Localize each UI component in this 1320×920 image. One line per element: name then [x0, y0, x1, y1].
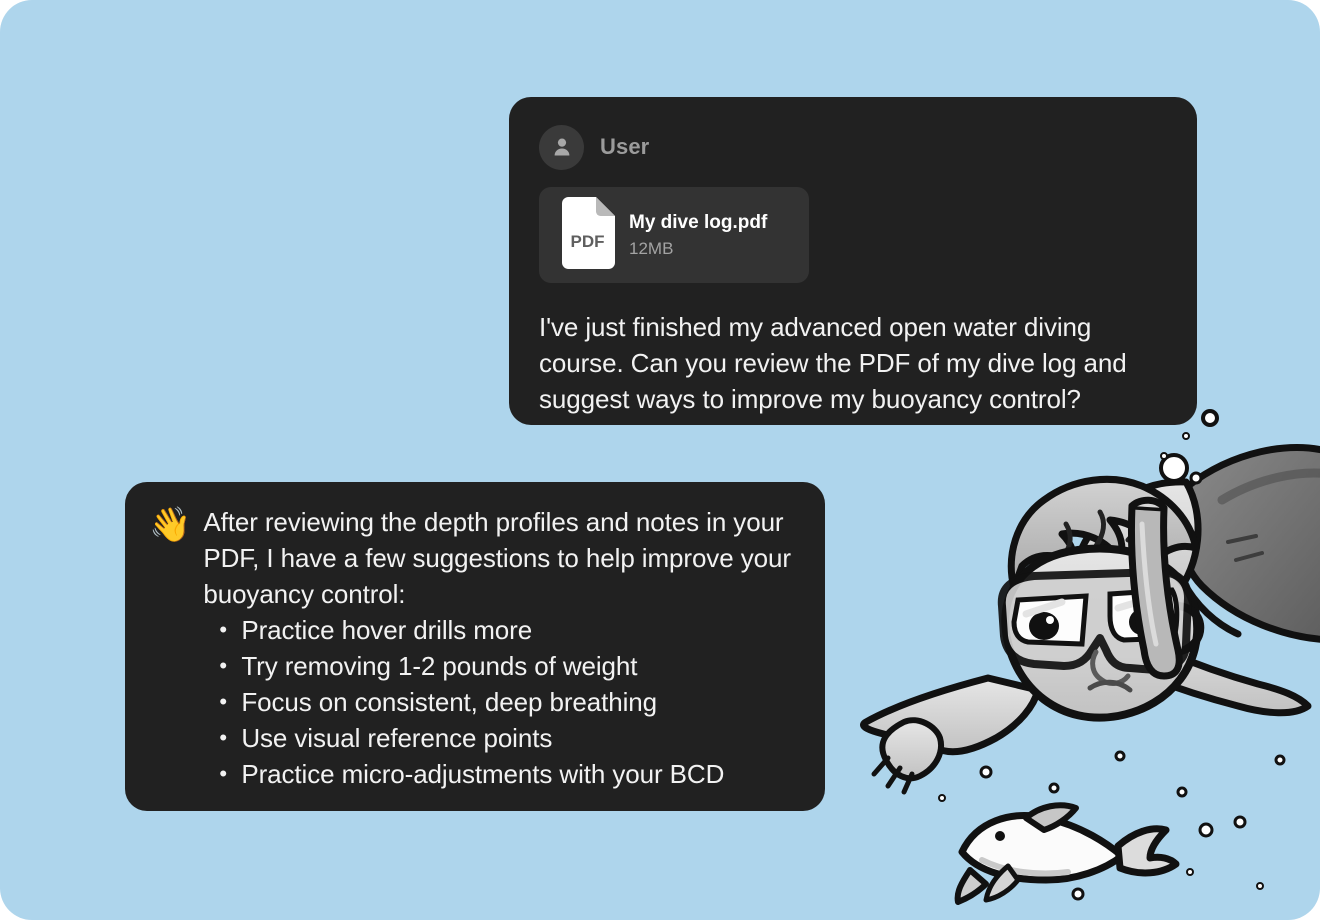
bubble — [939, 795, 945, 801]
finger-3 — [904, 774, 912, 792]
diver-left-hand — [882, 720, 941, 778]
bubble — [1257, 883, 1263, 889]
dive-mask — [1002, 572, 1188, 670]
attachment-meta: My dive log.pdf 12MB — [629, 212, 767, 259]
assistant-message-text: After reviewing the depth profiles and n… — [203, 504, 795, 792]
list-item: Practice micro-adjustments with your BCD — [241, 756, 795, 792]
diver-wetsuit — [1179, 447, 1320, 640]
suggestion-list: Practice hover drills more Try removing … — [203, 612, 795, 792]
bubble — [1276, 756, 1284, 764]
eye-left — [1029, 612, 1059, 640]
chat-scene-canvas: User PDF My dive log.pdf 12MB I've just … — [0, 0, 1320, 920]
diver-figure — [864, 447, 1320, 792]
bubble — [1161, 455, 1187, 481]
fish-lower-fin — [958, 870, 986, 902]
bubble — [1200, 824, 1212, 836]
fish-eye — [995, 831, 1005, 841]
finger-1 — [874, 758, 888, 774]
attachment-size: 12MB — [629, 239, 767, 259]
pdf-file-icon: PDF — [557, 197, 615, 274]
hair-strand-2 — [1096, 512, 1103, 546]
wetsuit-shading — [1222, 473, 1320, 500]
user-name-label: User — [600, 134, 649, 160]
wetsuit-crease-1 — [1228, 536, 1256, 542]
snorkel-top-rim — [1132, 500, 1164, 508]
diver-mouth — [1090, 682, 1130, 690]
bubble — [981, 767, 991, 777]
diver-head — [1005, 548, 1197, 717]
bubble — [1187, 869, 1193, 875]
hair-strand-3 — [1128, 508, 1138, 540]
assistant-message-bubble: 👋 After reviewing the depth profiles and… — [125, 482, 825, 811]
assistant-content-row: 👋 After reviewing the depth profiles and… — [149, 504, 795, 792]
list-item: Practice hover drills more — [241, 612, 795, 648]
fish-pectoral-fin — [986, 866, 1018, 900]
list-item: Focus on consistent, deep breathing — [241, 684, 795, 720]
waving-hand-emoji: 👋 — [149, 506, 191, 544]
user-header: User — [539, 123, 1163, 171]
snorkel-highlight — [1142, 524, 1156, 644]
diver-hair — [1011, 479, 1196, 588]
mask-glare-left — [1026, 602, 1062, 614]
hair-strand-1 — [1064, 524, 1070, 556]
chest-shading — [1100, 556, 1158, 570]
mask-strap — [1168, 606, 1200, 652]
svg-text:PDF: PDF — [571, 232, 605, 251]
fish-belly-shade — [982, 860, 1068, 874]
fish-body — [962, 816, 1122, 880]
mask-glare-right — [1118, 596, 1158, 608]
eye-right-highlight — [1145, 613, 1152, 620]
bubble — [1161, 453, 1167, 459]
diver-left-arm — [864, 678, 1038, 752]
mask-lens-left — [1014, 596, 1086, 644]
bubble — [1073, 889, 1083, 899]
finger-2 — [888, 768, 900, 786]
bubble — [1050, 784, 1058, 792]
fish-tail — [1118, 829, 1176, 873]
list-item: Try removing 1-2 pounds of weight — [241, 648, 795, 684]
bubble — [1203, 411, 1217, 425]
user-message-text: I've just finished my advanced open wate… — [539, 309, 1163, 417]
fish-figure — [958, 805, 1176, 902]
diver-right-arm — [1080, 612, 1308, 713]
attachment-card[interactable]: PDF My dive log.pdf 12MB — [539, 187, 809, 283]
wetsuit-crease-2 — [1236, 553, 1262, 560]
eye-left-highlight — [1046, 616, 1054, 624]
attachment-name: My dive log.pdf — [629, 212, 767, 234]
list-item: Use visual reference points — [241, 720, 795, 756]
diver-nose — [1093, 652, 1128, 683]
user-avatar-icon — [539, 125, 584, 170]
diver-shoulder — [1068, 482, 1198, 619]
armpit-mark — [1122, 589, 1158, 596]
mask-lens-right — [1110, 590, 1177, 640]
bubble — [1178, 788, 1186, 796]
bubble — [1191, 473, 1201, 483]
user-message-bubble: User PDF My dive log.pdf 12MB I've just … — [509, 97, 1197, 425]
assistant-intro-paragraph: After reviewing the depth profiles and n… — [203, 504, 795, 612]
fish-dorsal-fin — [1026, 805, 1076, 830]
bubble — [1183, 433, 1189, 439]
wetsuit-hem — [1182, 580, 1238, 634]
bubble — [1235, 817, 1245, 827]
bubble — [1116, 752, 1124, 760]
eye-right — [1129, 609, 1155, 635]
air-bubbles — [939, 396, 1284, 899]
snorkel-tube — [1132, 506, 1180, 676]
